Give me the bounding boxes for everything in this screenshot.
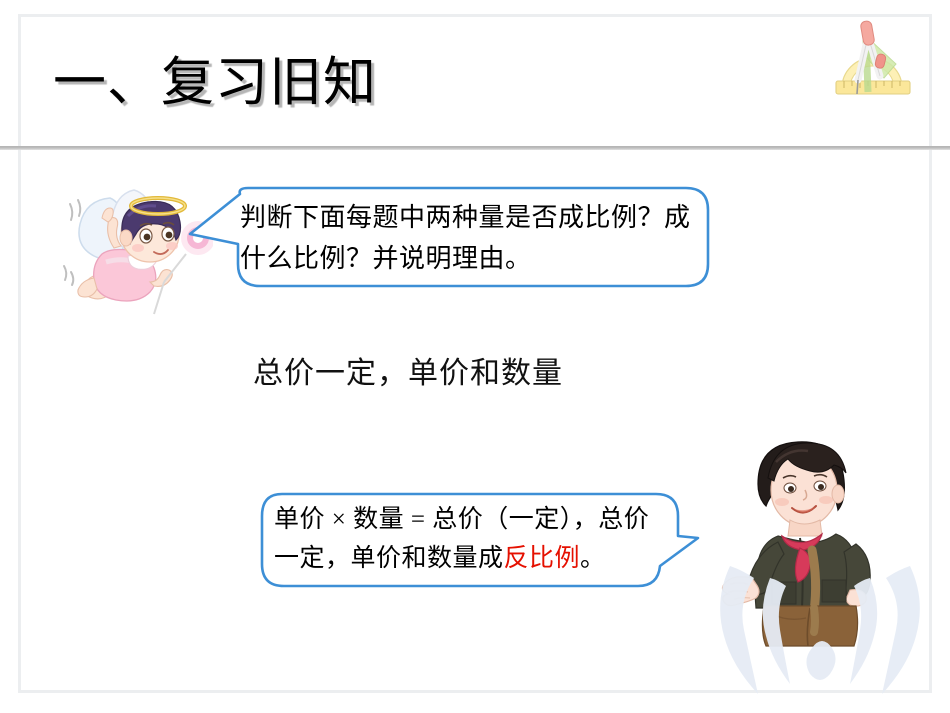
title-divider [0,146,950,150]
answer-bubble-text: 单价 × 数量 = 总价（一定），总价一定，单价和数量成反比例。 [274,500,674,578]
question-speech-bubble: 判断下面每题中两种量是否成比例？成什么比例？并说明理由。 [188,186,713,291]
slide-canvas: 一、复习旧知 [0,0,950,713]
question-bubble-text: 判断下面每题中两种量是否成比例？成什么比例？并说明理由。 [240,197,700,279]
compass-protractor-ruler-icon [824,18,920,106]
statement-text: 总价一定，单价和数量 [253,352,563,396]
answer-highlight: 反比例 [504,545,581,572]
answer-speech-bubble: 单价 × 数量 = 总价（一定），总价一定，单价和数量成反比例。 [260,492,700,588]
answer-suffix: 。 [580,545,606,572]
page-title: 一、复习旧知 [53,50,377,116]
boy-student-character [716,432,891,647]
